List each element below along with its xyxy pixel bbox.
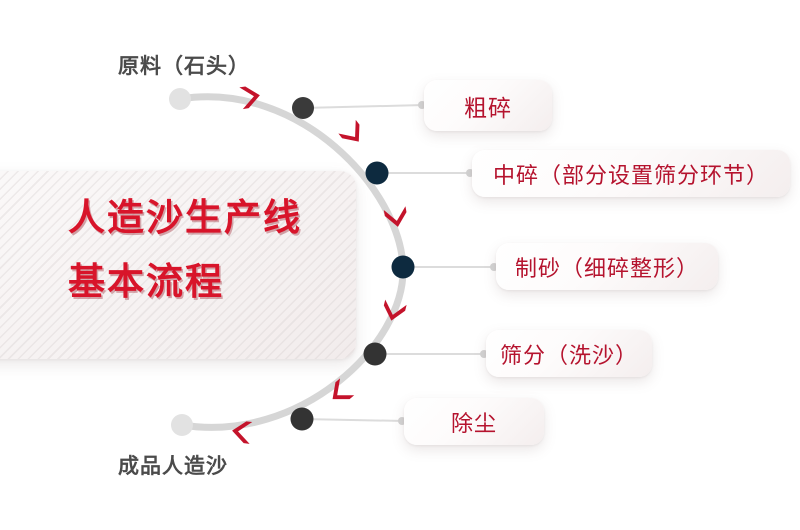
step-label-0: 粗碎 [424, 89, 552, 123]
step-card-screening[interactable]: 筛分（洗沙） [486, 330, 652, 377]
arrow-chevron-1 [338, 120, 367, 149]
step-card-coarse-crush[interactable]: 粗碎 [424, 80, 552, 131]
end-endpoint-dot [171, 414, 193, 436]
infographic-canvas: 人造沙生产线 基本流程 [0, 0, 800, 530]
step-label-1: 中碎（部分设置筛分环节） [472, 158, 790, 190]
start-endpoint-dot [169, 88, 191, 110]
connector-line-0 [303, 105, 424, 108]
end-label: 成品人造沙 [118, 450, 228, 480]
step-card-dust-removal[interactable]: 除尘 [404, 398, 544, 445]
step-card-medium-crush[interactable]: 中碎（部分设置筛分环节） [472, 150, 790, 197]
flow-arc-path [180, 97, 403, 428]
start-label: 原料（石头） [118, 50, 250, 80]
connector-line-4 [302, 419, 404, 421]
flow-node-2[interactable] [392, 256, 415, 279]
flow-node-0[interactable] [292, 97, 314, 119]
flow-node-1[interactable] [366, 162, 389, 185]
step-label-4: 除尘 [404, 406, 544, 438]
flow-node-4[interactable] [291, 408, 314, 431]
step-label-3: 筛分（洗沙） [486, 338, 652, 370]
step-label-2: 制砂（细碎整形） [496, 251, 718, 283]
flow-node-3[interactable] [364, 343, 387, 366]
step-card-sand-making[interactable]: 制砂（细碎整形） [496, 243, 718, 290]
